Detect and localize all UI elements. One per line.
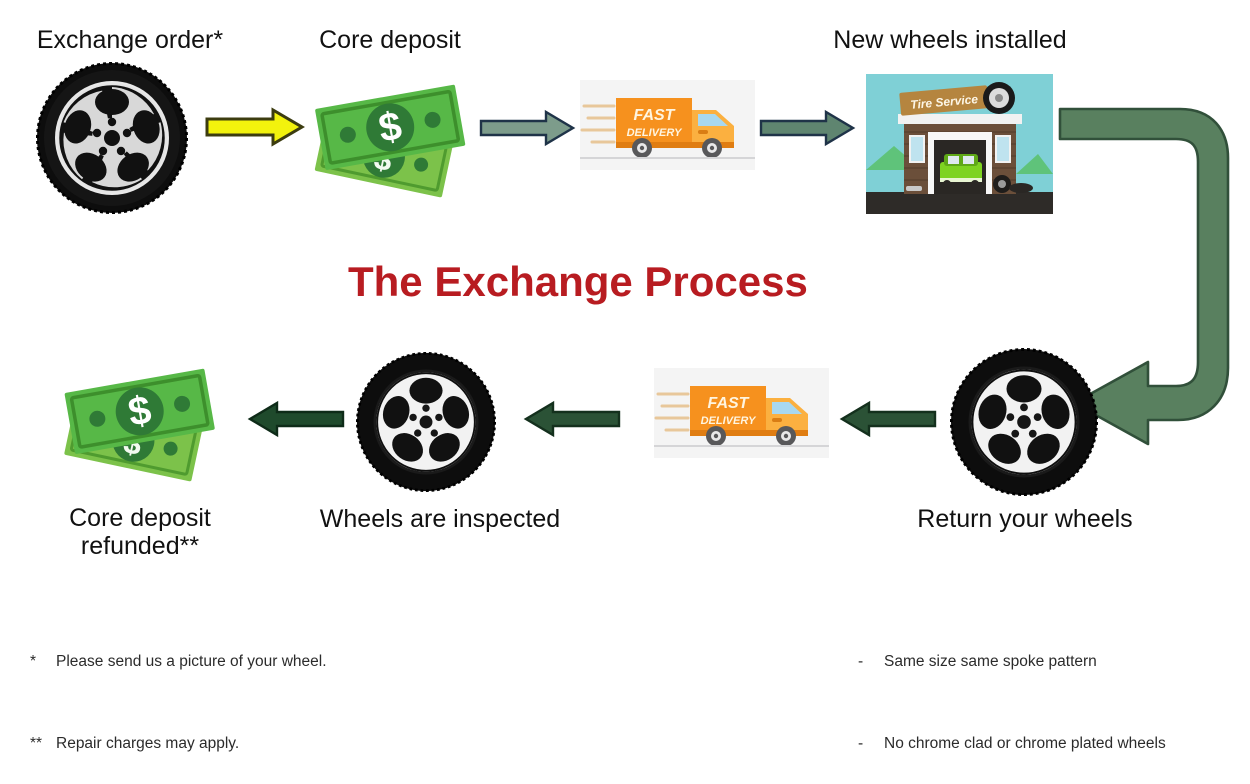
delivery-truck-icon: FAST DELIVERY xyxy=(580,80,755,170)
footnote-text: Please send us a picture of your wheel. xyxy=(56,648,327,675)
footnote-marker: ** xyxy=(30,730,56,757)
page-title: The Exchange Process xyxy=(348,258,808,306)
footnote-text: Same size same spoke pattern xyxy=(884,648,1097,675)
arrow-return-to-truck xyxy=(840,400,936,438)
label-wheels-inspected: Wheels are inspected xyxy=(290,505,590,533)
label-core-deposit-refunded: Core deposit refunded** xyxy=(35,504,245,560)
footnote-item: * Please send us a picture of your wheel… xyxy=(30,648,327,675)
money-icon: $ $ xyxy=(52,352,232,492)
footnote-marker: - xyxy=(858,648,884,675)
footnote-item: ** Repair charges may apply. xyxy=(30,730,327,757)
footnote-text: No chrome clad or chrome plated wheels xyxy=(884,730,1166,757)
chrome-wheel-icon xyxy=(356,352,496,492)
tire-service-garage-icon: Tire Service xyxy=(866,74,1053,214)
footnote-text: Repair charges may apply. xyxy=(56,730,239,757)
footnote-marker: - xyxy=(858,730,884,757)
label-core-deposit: Core deposit xyxy=(300,26,480,54)
arrow-deposit-to-truck xyxy=(480,110,576,146)
footnote-marker: * xyxy=(30,648,56,675)
truck-fast-text: FAST xyxy=(634,107,676,124)
footnotes-right: - Same size same spoke pattern - No chro… xyxy=(858,594,1166,784)
arrow-truck-to-inspect xyxy=(524,400,620,438)
delivery-truck-icon: FAST DELIVERY xyxy=(654,368,829,458)
truck-delivery-text: DELIVERY xyxy=(701,415,757,427)
truck-fast-text: FAST xyxy=(708,395,750,412)
truck-delivery-text: DELIVERY xyxy=(627,127,683,139)
footnote-item: - Same size same spoke pattern xyxy=(858,648,1166,675)
label-new-wheels-installed: New wheels installed xyxy=(805,26,1095,54)
footnote-item: - No chrome clad or chrome plated wheels xyxy=(858,730,1166,757)
arrow-inspect-to-refund xyxy=(248,400,344,438)
black-wheel-icon xyxy=(36,62,188,214)
arrow-order-to-deposit xyxy=(205,108,305,146)
money-icon: $ $ xyxy=(305,68,480,208)
label-return-your-wheels: Return your wheels xyxy=(880,505,1170,533)
footnotes-left: * Please send us a picture of your wheel… xyxy=(30,594,327,784)
label-exchange-order: Exchange order* xyxy=(0,26,260,54)
chrome-wheel-icon xyxy=(950,348,1098,496)
arrow-truck-to-garage xyxy=(760,110,856,146)
